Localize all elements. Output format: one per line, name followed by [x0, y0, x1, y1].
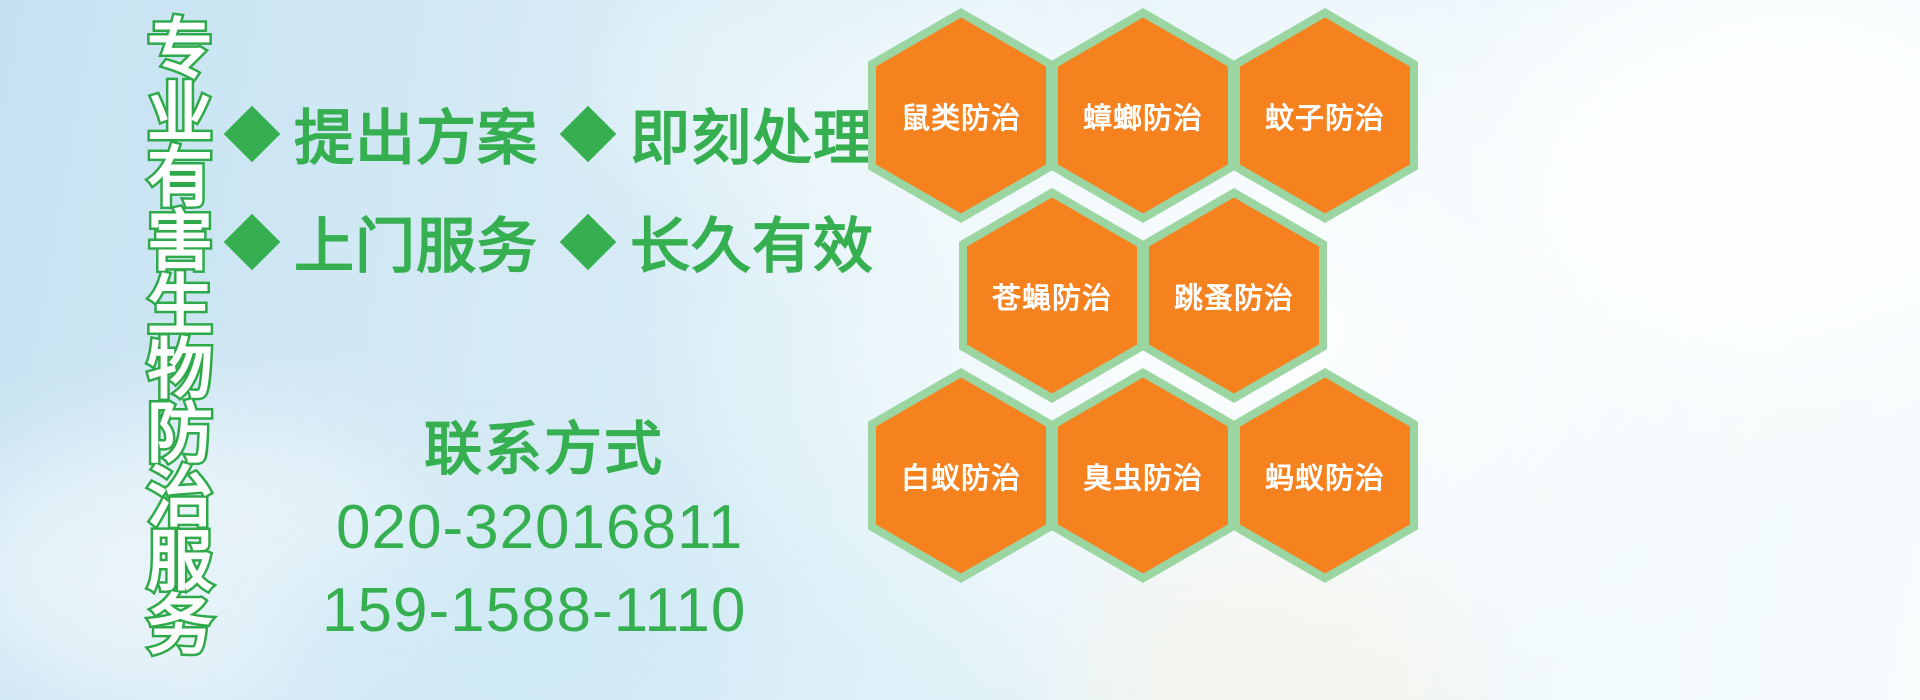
hex-inner: 臭虫防治	[1058, 378, 1228, 574]
hex-flea-control[interactable]: 跳蚤防治	[1141, 188, 1327, 403]
pest-control-banner: 专业有害生物防治服务 提出方案 即刻处理 上门服务 长久有效 联系方式 020-…	[0, 0, 1920, 700]
diamond-icon	[224, 213, 281, 270]
feature-item-proposal: 提出方案	[232, 90, 538, 177]
hex-label: 蚂蚁防治	[1265, 455, 1385, 497]
diamond-icon	[224, 105, 281, 162]
feature-label: 提出方案	[294, 90, 538, 177]
hex-ant-control[interactable]: 蚂蚁防治	[1232, 368, 1418, 583]
background-blur-blob	[1080, 560, 1460, 700]
hex-label: 蟑螂防治	[1083, 95, 1203, 137]
hex-inner: 苍蝇防治	[967, 198, 1137, 394]
hex-inner: 蚊子防治	[1240, 18, 1410, 214]
feature-item-longlasting: 长久有效	[568, 198, 874, 285]
feature-item-immediate: 即刻处理	[568, 90, 874, 177]
feature-item-onsite: 上门服务	[232, 198, 538, 285]
hex-label: 鼠类防治	[901, 95, 1021, 137]
phone-landline[interactable]: 020-32016811	[336, 492, 743, 563]
feature-label: 长久有效	[630, 198, 874, 285]
hex-label: 白蚁防治	[901, 455, 1021, 497]
hex-termite-control[interactable]: 白蚁防治	[868, 368, 1054, 583]
hex-label: 苍蝇防治	[992, 275, 1112, 317]
feature-row-2: 上门服务 长久有效	[232, 198, 874, 285]
hex-fly-control[interactable]: 苍蝇防治	[959, 188, 1145, 403]
feature-label: 即刻处理	[630, 90, 874, 177]
hex-label: 蚊子防治	[1265, 95, 1385, 137]
hex-inner: 蟑螂防治	[1058, 18, 1228, 214]
diamond-icon	[560, 105, 617, 162]
feature-row-1: 提出方案 即刻处理	[232, 90, 874, 177]
hex-label: 臭虫防治	[1083, 455, 1203, 497]
hex-mosquito-control[interactable]: 蚊子防治	[1232, 8, 1418, 223]
hex-label: 跳蚤防治	[1174, 275, 1294, 317]
feature-label: 上门服务	[294, 198, 538, 285]
contact-heading: 联系方式	[424, 402, 664, 486]
hex-cockroach-control[interactable]: 蟑螂防治	[1050, 8, 1236, 223]
phone-mobile[interactable]: 159-1588-1110	[322, 575, 746, 646]
hex-bedbug-control[interactable]: 臭虫防治	[1050, 368, 1236, 583]
hex-inner: 白蚁防治	[876, 378, 1046, 574]
diamond-icon	[560, 213, 617, 270]
hex-inner: 蚂蚁防治	[1240, 378, 1410, 574]
hex-inner: 鼠类防治	[876, 18, 1046, 214]
hex-inner: 跳蚤防治	[1149, 198, 1319, 394]
vertical-headline: 专业有害生物防治服务	[104, 14, 208, 574]
background-blur-blob	[1500, 0, 1920, 380]
hex-rodent-control[interactable]: 鼠类防治	[868, 8, 1054, 223]
